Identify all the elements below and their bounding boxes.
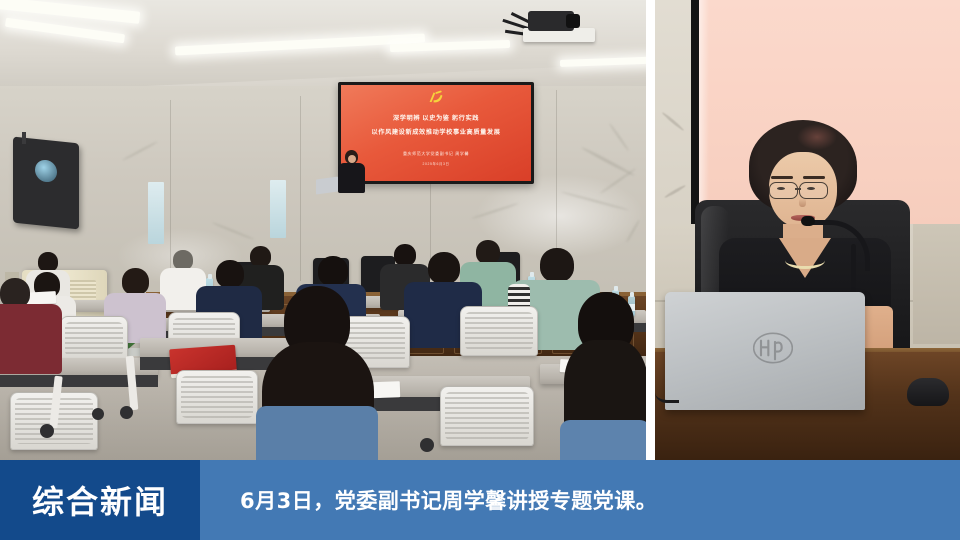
chair: [460, 306, 538, 356]
audience-person-foreground: [560, 292, 646, 460]
person-body: [256, 406, 378, 460]
person-head: [428, 252, 460, 284]
screen-headline-1: 深学明辨 以史为鉴 躬行实践: [341, 113, 531, 122]
screen-presenter: 重庆师范大学党委副书记 周学馨: [341, 151, 531, 157]
speaker-bracket: [22, 132, 26, 144]
projection-screen-content: 深学明辨 以史为鉴 躬行实践 以作风建设新成效推动学校事业高质量发展 重庆师范大…: [341, 85, 531, 181]
wall-speaker-icon: [13, 137, 79, 230]
chair-castor: [92, 408, 104, 420]
person-head: [38, 252, 58, 272]
presenter-face: [348, 155, 356, 163]
person-head: [216, 260, 244, 288]
chair-castor: [40, 424, 54, 438]
screen-headline-2: 以作风建设新成效推动学校事业高质量发展: [341, 127, 531, 136]
projection-screen: 深学明辨 以史为鉴 躬行实践 以作风建设新成效推动学校事业高质量发展 重庆师范大…: [338, 82, 534, 184]
presenter-person: [336, 150, 366, 198]
news-photo-card: 深学明辨 以史为鉴 躬行实践 以作风建设新成效推动学校事业高质量发展 重庆师范大…: [0, 0, 960, 540]
wall-side-panel: [913, 224, 960, 344]
person-head: [318, 256, 348, 286]
audience-person: [0, 278, 72, 370]
speaker-eyebrow: [771, 176, 793, 179]
chair-castor: [120, 406, 133, 419]
projector-lens-icon: [566, 14, 580, 28]
hp-laptop: [665, 292, 865, 410]
eyeglasses-icon: [769, 182, 798, 199]
wall-light-slit: [148, 182, 164, 244]
microphone-icon: [801, 216, 815, 226]
person-body: [0, 304, 62, 374]
category-label: 综合新闻: [32, 477, 168, 523]
chair-castor: [420, 438, 434, 452]
cable: [655, 382, 679, 403]
caption-text: 6月3日，党委副书记周学馨讲授专题党课。: [240, 460, 657, 540]
speaker-hair-highlight: [797, 124, 837, 150]
person-head: [540, 248, 574, 282]
chair-backrest-lines: [65, 322, 123, 356]
category-badge: 综合新闻: [0, 460, 200, 540]
eyeglasses-icon: [799, 182, 828, 199]
presenter-body: [338, 163, 365, 193]
cpc-party-emblem-icon: [426, 90, 446, 106]
chair: [440, 386, 534, 446]
wall-seam: [300, 96, 301, 281]
wall-light-slit: [270, 180, 286, 238]
presenter-laptop-icon: [316, 176, 338, 194]
person-head: [173, 250, 193, 270]
person-head: [122, 268, 149, 295]
chair-backrest-lines: [181, 376, 253, 418]
person-body: [560, 420, 646, 460]
chair-backrest-lines: [465, 312, 533, 350]
speaker-nose: [799, 198, 806, 207]
speaker-portrait-photo: [655, 0, 960, 460]
computer-mouse: [907, 378, 949, 406]
hp-logo-icon: [753, 332, 793, 364]
screen-gloss: [699, 0, 709, 224]
speaker-eyebrow: [803, 176, 825, 179]
screen-date: 2025年6月3日: [341, 161, 531, 166]
audience-person-foreground: [256, 286, 376, 460]
caption-bar: 综合新闻 6月3日，党委副书记周学馨讲授专题党课。: [0, 460, 960, 540]
eyeglasses-bridge: [795, 188, 801, 190]
chair-backrest-lines: [445, 392, 529, 440]
conference-room-photo: 深学明辨 以史为鉴 躬行实践 以作风建设新成效推动学校事业高质量发展 重庆师范大…: [0, 0, 646, 460]
chair: [176, 370, 258, 424]
